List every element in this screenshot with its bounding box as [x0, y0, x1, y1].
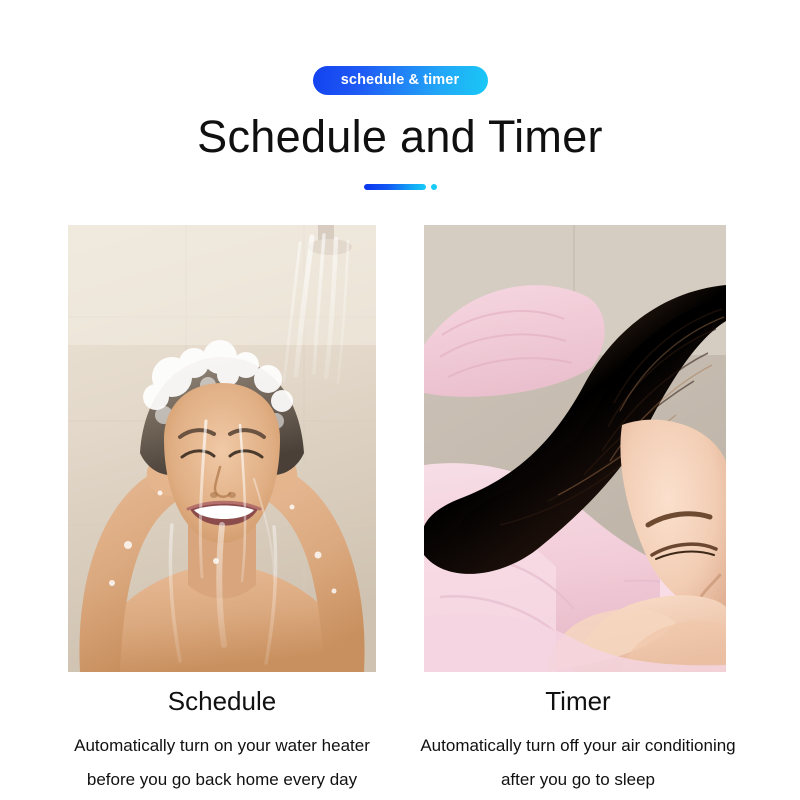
- section-badge: schedule & timer: [313, 66, 488, 95]
- promo-page: schedule & timer Schedule and Timer: [0, 0, 800, 800]
- feature-card-timer: Timer Automatically turn off your air co…: [424, 225, 732, 797]
- photo-woman-sleeping-on-pink-bedding: [424, 225, 732, 672]
- feature-card-schedule: Schedule Automatically turn on your wate…: [68, 225, 376, 797]
- feature-cards: Schedule Automatically turn on your wate…: [0, 225, 800, 797]
- card-title-timer: Timer: [424, 684, 732, 719]
- header: schedule & timer Schedule and Timer: [0, 0, 800, 191]
- card-description-timer: Automatically turn off your air conditio…: [406, 729, 750, 797]
- underline-dot-icon: [431, 184, 437, 190]
- underline-bar-icon: [364, 184, 426, 190]
- photo-woman-shampooing-hair-in-shower: [68, 225, 376, 672]
- title-underline: [0, 184, 800, 191]
- card-title-schedule: Schedule: [68, 684, 376, 719]
- page-title: Schedule and Timer: [0, 111, 800, 163]
- card-description-schedule: Automatically turn on your water heater …: [50, 729, 394, 797]
